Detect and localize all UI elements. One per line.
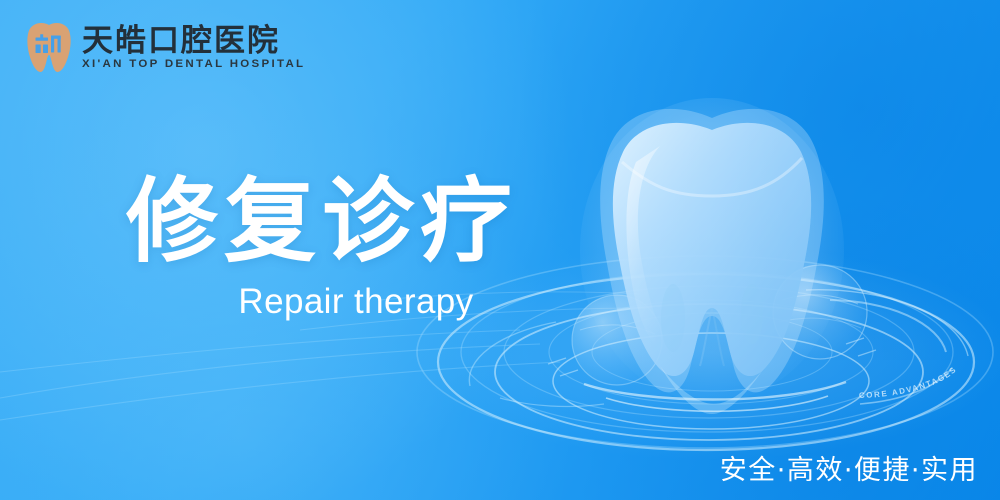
brand-name-cn: 天皓口腔医院 bbox=[82, 26, 305, 57]
dental-promo-banner: CORE ADVANTAGES 天皓口腔医院 XI'AN TOP DENTAL … bbox=[0, 0, 1000, 500]
brand-logo-text: 天皓口腔医院 XI'AN TOP DENTAL HOSPITAL bbox=[82, 26, 305, 71]
headline-title-en: Repair therapy bbox=[126, 284, 586, 319]
headline-block: 修复诊疗 Repair therapy bbox=[126, 176, 596, 319]
brand-logo[interactable]: 天皓口腔医院 XI'AN TOP DENTAL HOSPITAL bbox=[26, 22, 305, 74]
brand-name-en: XI'AN TOP DENTAL HOSPITAL bbox=[82, 59, 305, 70]
headline-title-cn: 修复诊疗 bbox=[126, 176, 596, 268]
tagline: 安全·高效·便捷·实用 bbox=[720, 457, 978, 484]
tooth-logo-mark-icon bbox=[26, 22, 72, 74]
